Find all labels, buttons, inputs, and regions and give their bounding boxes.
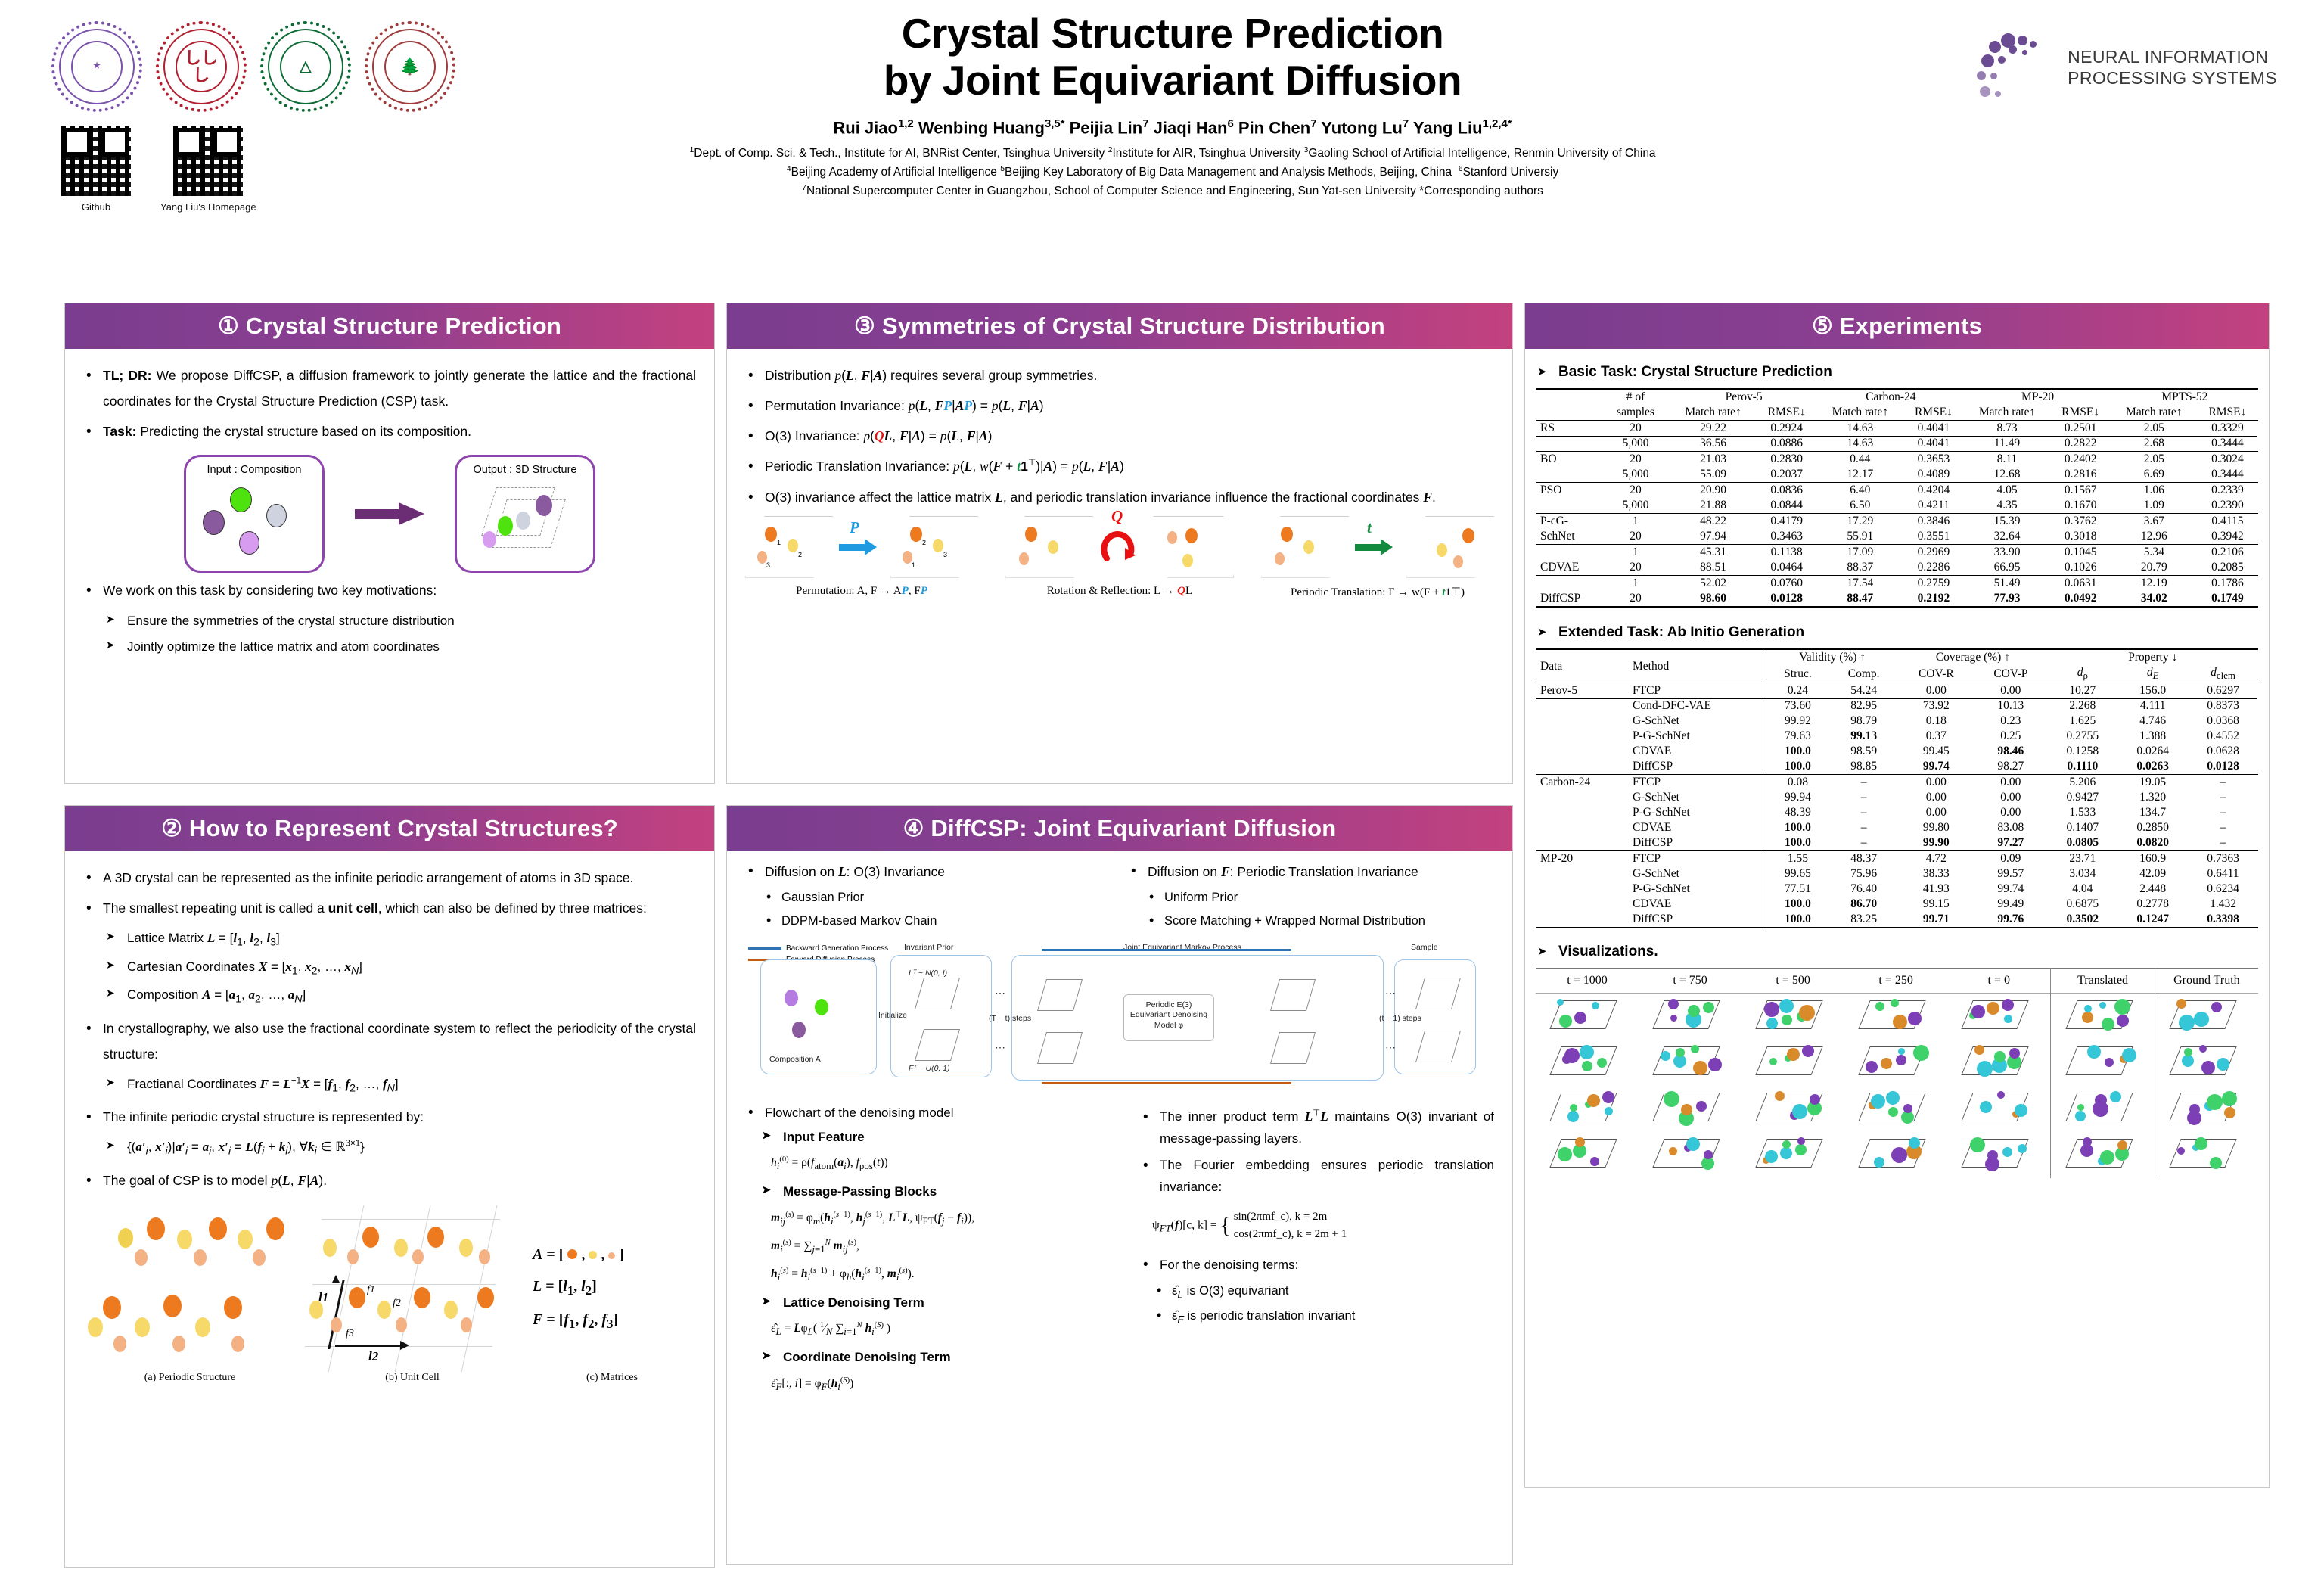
cell-value: 0.4552: [2188, 729, 2258, 744]
cell-value: 0.0263: [2117, 759, 2188, 775]
cell-value: 0.24: [1766, 683, 1829, 699]
cell-value: 77.51: [1766, 882, 1829, 897]
cell-value: 0.1138: [1756, 545, 1817, 561]
tsinghua-seal-icon: ★: [51, 21, 142, 112]
cell-value: 6.69: [2111, 467, 2197, 483]
panel1-motivation-2: Jointly optimize the lattice matrix and …: [106, 634, 696, 661]
neurips-line2: PROCESSING SYSTEMS: [2068, 68, 2277, 89]
crystal-thumbnail: [1754, 994, 1832, 1035]
atom-green: [230, 487, 252, 512]
atom-marker: [2015, 1104, 2027, 1117]
crystal-thumbnail: [1548, 1087, 1626, 1127]
atom-marker: [2095, 1094, 2107, 1106]
panel2-bullet-3: In crystallography, we also use the frac…: [83, 1015, 696, 1067]
atom-marker: [2195, 1137, 2207, 1150]
cell-dataset: [1536, 698, 1628, 714]
atom-marker: [1708, 1058, 1722, 1071]
panel3-title: ③ Symmetries of Crystal Structure Distri…: [727, 303, 1512, 349]
eq-message-3: hi(s) = hi(s−1) + φh(hi(s−1), mi(s)).: [771, 1262, 1123, 1287]
panel3-translation-label: Periodic Translation Invariance:: [765, 459, 953, 474]
cell-method: G-SchNet: [1628, 714, 1766, 729]
cell-dataset: [1536, 759, 1628, 775]
cell-value: 0.2850: [2117, 820, 2188, 835]
cell-value: 2.448: [2117, 882, 2188, 897]
table-row: SchNet2097.940.346355.910.355132.640.301…: [1536, 529, 2258, 545]
atom-marker: [2189, 1104, 2200, 1115]
cell-value: 76.40: [1829, 882, 1898, 897]
cell-value: 0.4179: [1756, 514, 1817, 530]
cell-value: 20.79: [2111, 560, 2197, 576]
cell-value: 86.70: [1829, 897, 1898, 912]
viz-cell: [1947, 1132, 2051, 1178]
cell-value: 0.2501: [2050, 421, 2111, 437]
cell-value: 160.9: [2117, 851, 2188, 867]
cell-value: 1.320: [2117, 790, 2188, 805]
neurips-text: NEURAL INFORMATION PROCESSING SYSTEMS: [2068, 47, 2277, 89]
label-l1: l1: [318, 1290, 328, 1305]
flow-invariant-prior-label: Invariant Prior: [904, 943, 953, 952]
panel4-diffusion-L: Diffusion on L: O(3) Invariance: [745, 862, 1111, 882]
cell-value: 98.46: [1974, 744, 2047, 759]
table-row: Carbon-24FTCP0.08–0.000.005.20619.05–: [1536, 775, 2258, 791]
atom-marker: [2224, 1107, 2235, 1118]
atom-marker: [1587, 1094, 1600, 1107]
cell-value: 0.0368: [2188, 714, 2258, 729]
cell-value: 0.0836: [1756, 483, 1817, 499]
figure-csp-task: Input : Composition Output : 3D Structur…: [83, 455, 696, 573]
table-row: G-SchNet99.6575.9638.3399.573.03442.090.…: [1536, 866, 2258, 882]
atom-marker: [2100, 1150, 2114, 1165]
cell-value: 99.45: [1898, 744, 1974, 759]
crystal-thumbnail: [2064, 994, 2142, 1035]
crystal-thumbnail: [1754, 1087, 1832, 1127]
cell-value: 134.7: [2117, 805, 2188, 820]
viz-cell: [1741, 994, 1844, 1040]
cell-value: 0.1567: [2050, 483, 2111, 499]
cell-value: –: [2188, 820, 2258, 835]
atom-marker: [2082, 1012, 2093, 1023]
th-mpts52: MPTS-52: [2111, 389, 2258, 405]
experiments-subtitle-1: Basic Task: Crystal Structure Prediction: [1537, 364, 2258, 381]
eq-fourier-embedding: ψFT(f)[c, k] = { sin(2πmf_c), k = 2m cos…: [1152, 1203, 1494, 1248]
atom-marker: [2210, 1157, 2222, 1169]
cell-dataset: [1536, 835, 1628, 851]
cell-value: 5.206: [2047, 775, 2117, 791]
cell-value: 99.13: [1829, 729, 1898, 744]
atom-marker: [1582, 1061, 1592, 1071]
eq-coord-denoise: ε̂F[:, i] = φF(hi(S)): [771, 1372, 1123, 1397]
viz-col-header: t = 250: [1844, 969, 1947, 994]
atom-marker: [2084, 1005, 2092, 1012]
table-csp-head: # of Perov-5 Carbon-24 MP-20 MPTS-52 sam…: [1536, 389, 2258, 421]
cell-value: 0.3942: [2197, 529, 2258, 545]
table-generation-results: Data Method Validity (%) ↑ Coverage (%) …: [1536, 648, 2258, 928]
label-f1: f1: [367, 1284, 375, 1296]
table-row: DiffCSP100.083.2599.7199.760.35020.12470…: [1536, 912, 2258, 928]
cell-dataset: [1536, 714, 1628, 729]
panel2-cartesian-coords: Cartesian Coordinates X = [x1, x2, …, xN…: [106, 954, 696, 982]
cell-value: 98.85: [1829, 759, 1898, 775]
cell-value: –: [1829, 835, 1898, 851]
table-row: 5,00021.880.08446.500.42114.350.16701.09…: [1536, 498, 2258, 514]
cell-value: 99.94: [1766, 790, 1829, 805]
panel4-uniform-prior: Uniform Prior: [1146, 886, 1494, 910]
crystal-thumbnail: [2167, 1133, 2246, 1174]
cell-value: –: [2188, 790, 2258, 805]
cell-method: Cond-DFC-VAE: [1628, 698, 1766, 714]
experiments-subtitle-3: Visualizations.: [1537, 944, 2258, 960]
translation-arrow-icon: t: [1355, 541, 1400, 553]
crystal-thumbnail: [2064, 1133, 2142, 1174]
panel-symmetries: ③ Symmetries of Crystal Structure Distri…: [726, 303, 1513, 784]
th-property: Property ↓: [2047, 649, 2258, 665]
cell-dataset: [1536, 790, 1628, 805]
cell-value: 14.63: [1817, 421, 1903, 437]
cell-value: 156.0: [2117, 683, 2188, 699]
cell-method: [1536, 467, 1601, 483]
qr-homepage[interactable]: Yang Liu's Homepage: [160, 124, 256, 213]
cell-samples: 5,000: [1601, 467, 1670, 483]
panel1-tldr-text: We propose DiffCSP, a diffusion framewor…: [103, 368, 696, 409]
cell-value: 0.44: [1817, 452, 1903, 468]
panel2-bullet-1: A 3D crystal can be represented as the i…: [83, 865, 696, 891]
th-data: Data: [1536, 649, 1628, 683]
op-label-Q: Q: [1111, 507, 1123, 526]
neurips-logo: NEURAL INFORMATION PROCESSING SYSTEMS: [1975, 29, 2277, 107]
cell-value: 29.22: [1670, 421, 1756, 437]
figure-output-box: Output : 3D Structure: [455, 455, 595, 573]
cell-value: 0.4211: [1903, 498, 1964, 514]
cell-value: 14.63: [1817, 436, 1903, 452]
qr-github[interactable]: Github: [59, 124, 133, 213]
atom-marker: [2182, 1055, 2194, 1067]
crystal-thumbnail: [1548, 994, 1626, 1035]
crystal-thumbnail: [1651, 1133, 1729, 1174]
cell-value: 100.0: [1766, 820, 1829, 835]
flow-initialize-label: Initialize: [878, 1011, 907, 1020]
cell-value: 0.2106: [2197, 545, 2258, 561]
panel2-periodic-eq: {(a′i, x′i)|a′i = ai, x′i = L(fi + ki), …: [106, 1134, 696, 1162]
cell-value: 0.2778: [2117, 897, 2188, 912]
crystal-thumbnail: [1651, 1040, 1729, 1081]
panel4-coord-head: Coordinate Denoising Term: [762, 1348, 1123, 1367]
table-visualizations: t = 1000t = 750t = 500t = 250t = 0Transl…: [1536, 968, 2258, 1178]
viz-cell: [2155, 1132, 2258, 1178]
table-row: Data Method Validity (%) ↑ Coverage (%) …: [1536, 649, 2258, 665]
cell-value: 1.06: [2111, 483, 2197, 499]
cell-value: 100.0: [1766, 759, 1829, 775]
crystal-thumbnail: [1548, 1040, 1626, 1081]
flow-lattice-prior: Lᵀ ~ N(0, I): [909, 969, 947, 978]
table-row: [1536, 1132, 2258, 1178]
atom-marker: [1574, 1012, 1586, 1024]
cell-value: 2.268: [2047, 698, 2117, 714]
table-row: P-G-SchNet48.39–0.000.001.533134.7–: [1536, 805, 2258, 820]
cell-dataset: Perov-5: [1536, 683, 1628, 699]
figure-periodic-structure: (a) Periodic Structure: [83, 1205, 696, 1395]
cell-value: 0.3846: [1903, 514, 1964, 530]
figure-unit-cell: l1 l2 f1 f2 f3 (b) Unit Cell: [299, 1205, 526, 1379]
cell-value: 6.50: [1817, 498, 1903, 514]
cell-value: 98.27: [1974, 759, 2047, 775]
op-label-t: t: [1367, 518, 1372, 537]
cell-samples: 1: [1601, 514, 1670, 530]
table-row: [1536, 994, 2258, 1040]
lattice-cell-icon: 2 3 1: [890, 516, 978, 578]
cell-value: 100.0: [1766, 835, 1829, 851]
cell-value: 48.39: [1766, 805, 1829, 820]
viz-cell: [1741, 1086, 1844, 1132]
cell-method: [1536, 436, 1601, 452]
cell-value: 99.71: [1898, 912, 1974, 928]
cell-value: 12.96: [2111, 529, 2197, 545]
cell-value: 17.09: [1817, 545, 1903, 561]
poster-title-line2: by Joint Equivariant Diffusion: [530, 58, 1816, 104]
viz-cell: [1844, 1040, 1947, 1086]
atom-marker: [2199, 1045, 2207, 1053]
table-row: P-G-SchNet77.5176.4041.9399.744.042.4480…: [1536, 882, 2258, 897]
cell-value: 0.6297: [2188, 683, 2258, 699]
cell-value: –: [2188, 805, 2258, 820]
cell-method: CDVAE: [1628, 897, 1766, 912]
viz-cell: [1947, 994, 2051, 1040]
cell-value: 83.08: [1974, 820, 2047, 835]
table-row: [1536, 1086, 2258, 1132]
crystal-thumbnail: [1959, 1133, 2038, 1174]
panel2-bullet-5: The goal of CSP is to model p(L, F|A).: [83, 1168, 696, 1193]
cell-value: 77.93: [1964, 591, 2049, 607]
cell-value: 32.64: [1964, 529, 2049, 545]
panel1-task: Task: Predicting the crystal structure b…: [83, 418, 696, 444]
atom-marker: [2117, 1015, 2129, 1027]
cell-value: 88.37: [1817, 560, 1903, 576]
cell-value: 88.51: [1670, 560, 1756, 576]
cell-value: –: [1829, 820, 1898, 835]
cell-samples: 20: [1601, 452, 1670, 468]
cell-value: 0.00: [1974, 683, 2047, 699]
atom-marker: [2117, 1140, 2127, 1150]
atom-marker: [2211, 1002, 2222, 1012]
cell-samples: 20: [1601, 560, 1670, 576]
label-l2: l2: [368, 1349, 378, 1364]
figure-diffusion-flowchart: Backward Generation Process Forward Diff…: [745, 941, 1494, 1099]
poster-title-line1: Crystal Structure Prediction: [530, 11, 1816, 58]
cell-method: PSO: [1536, 483, 1601, 499]
panel2-lattice-matrix: Lattice Matrix L = [l1, l2, l3]: [106, 925, 696, 953]
flow-steps-2: (t − 1) steps: [1379, 1014, 1421, 1023]
qr-codes: Github Yang Liu's Homepage: [59, 124, 256, 213]
atom-darkpurple: [203, 510, 225, 535]
cell-value: 2.05: [2111, 421, 2197, 437]
eq-ft-cos: cos(2πmf_c), k = 2m + 1: [1234, 1228, 1347, 1240]
panel4-denoise-eL: ε̂L is O(3) equivariant: [1154, 1280, 1494, 1304]
crystal-thumbnail: [1548, 1133, 1626, 1174]
panel1-title: ① Crystal Structure Prediction: [65, 303, 714, 349]
cell-value: 0.4204: [1903, 483, 1964, 499]
viz-cell: [2051, 994, 2155, 1040]
author-list: Rui Jiao1,2 Wenbing Huang3,5* Peijia Lin…: [530, 117, 1816, 138]
eq-ft-sin: sin(2πmf_c), k = 2m: [1234, 1211, 1328, 1223]
cell-value: 0.3444: [2197, 436, 2258, 452]
atom-marker: [1564, 1048, 1580, 1063]
table-row: G-SchNet99.94–0.000.000.94271.320–: [1536, 790, 2258, 805]
cell-value: 0.00: [1974, 790, 2047, 805]
atom-marker: [2077, 1104, 2084, 1111]
viz-cell: [2051, 1132, 2155, 1178]
viz-cell: [1947, 1086, 2051, 1132]
cell-dataset: [1536, 729, 1628, 744]
cell-method: G-SchNet: [1628, 790, 1766, 805]
cell-value: 55.09: [1670, 467, 1756, 483]
crystal-thumbnail: [1856, 1040, 1935, 1081]
cell-value: 0.1407: [2047, 820, 2117, 835]
column-3: ⑤ Experiments Basic Task: Crystal Struct…: [1524, 303, 2270, 1509]
cell-value: 99.74: [1898, 759, 1974, 775]
atom-marker: [1559, 1015, 1572, 1028]
cell-value: 0.2339: [2197, 483, 2258, 499]
cell-value: 0.2192: [1903, 591, 1964, 607]
viz-cell: [1639, 1086, 1741, 1132]
cell-value: 0.08: [1766, 775, 1829, 791]
cell-method: [1536, 498, 1601, 514]
lattice-cell-icon: [1406, 516, 1494, 578]
cell-method: BO: [1536, 452, 1601, 468]
table-csp-body: RS2029.220.292414.630.40418.730.25012.05…: [1536, 421, 2258, 608]
cell-value: 73.92: [1898, 698, 1974, 714]
cell-value: 0.00: [1898, 683, 1974, 699]
atom-marker: [2018, 1144, 2027, 1153]
cell-method: [1536, 545, 1601, 561]
qr-code-icon[interactable]: [171, 124, 245, 198]
panel3-permutation-label: Permutation Invariance:: [765, 398, 909, 413]
table-gen-head: Data Method Validity (%) ↑ Coverage (%) …: [1536, 649, 2258, 683]
atom-lightpurple: [239, 531, 259, 555]
cell-value: 100.0: [1766, 897, 1829, 912]
th-mp20: MP-20: [1964, 389, 2111, 405]
atom-marker: [1913, 1045, 1929, 1061]
cell-samples: 20: [1601, 529, 1670, 545]
figure-symmetries: 1 2 3 P: [745, 516, 1494, 599]
table-row: BO2021.030.28300.440.36538.110.24022.050…: [1536, 452, 2258, 468]
lattice-cell-icon: [1261, 516, 1349, 578]
cell-dataset: [1536, 805, 1628, 820]
table-row: CDVAE100.0–99.8083.080.14070.2850–: [1536, 820, 2258, 835]
cell-value: 0.0886: [1756, 436, 1817, 452]
panel3-permutation: Permutation Invariance: p(L, FP|AP) = p(…: [745, 393, 1494, 418]
cell-value: 0.2085: [2197, 560, 2258, 576]
cell-value: 1.55: [1766, 851, 1829, 867]
cell-value: 0.3762: [2050, 514, 2111, 530]
cell-dataset: MP-20: [1536, 851, 1628, 867]
cell-value: 11.49: [1964, 436, 2049, 452]
op-label-P: P: [850, 518, 859, 537]
cell-value: 20.90: [1670, 483, 1756, 499]
table-row: PSO2020.900.08366.400.42044.050.15671.06…: [1536, 483, 2258, 499]
neurips-swirl-icon: [1975, 29, 2057, 107]
cell-value: 98.59: [1829, 744, 1898, 759]
cell-method: FTCP: [1628, 775, 1766, 791]
cell-value: 0.3551: [1903, 529, 1964, 545]
panel4-right-2: The Fourier embedding ensures periodic t…: [1140, 1155, 1494, 1199]
table-row: 5,00055.090.203712.170.408912.680.28166.…: [1536, 467, 2258, 483]
cell-value: 0.3398: [2188, 912, 2258, 928]
panel3-o3-label: O(3) Invariance:: [765, 428, 863, 443]
cell-value: 75.96: [1829, 866, 1898, 882]
cell-value: 82.95: [1829, 698, 1898, 714]
panel3-o3-invariance: O(3) Invariance: p(QL, F|A) = p(L, F|A): [745, 423, 1494, 449]
cell-value: –: [1829, 805, 1898, 820]
cell-value: 0.0128: [2188, 759, 2258, 775]
panel-diffcsp: ④ DiffCSP: Joint Equivariant Diffusion D…: [726, 805, 1513, 1565]
atom-marker: [2207, 1094, 2223, 1110]
column-1: ① Crystal Structure Prediction TL; DR: W…: [64, 303, 715, 1589]
crystal-thumbnail: [1856, 1133, 1935, 1174]
cell-method: CDVAE: [1628, 744, 1766, 759]
atom-marker: [2110, 1091, 2121, 1102]
qr-code-icon[interactable]: [59, 124, 133, 198]
matrix-A: A = [ , , ]: [533, 1239, 691, 1270]
cell-value: 0.0628: [2188, 744, 2258, 759]
cell-value: 15.39: [1964, 514, 2049, 530]
atom-marker: [2222, 1091, 2237, 1106]
th-carbon24: Carbon-24: [1817, 389, 1964, 405]
cell-value: 0.0631: [2050, 576, 2111, 592]
title-block: Crystal Structure Prediction by Joint Eq…: [530, 11, 1816, 201]
symmetry-rotation-caption: Rotation & Reflection: L → QL: [1005, 585, 1234, 598]
flow-sample-label: Sample: [1411, 943, 1438, 952]
cell-value: 0.00: [1898, 775, 1974, 791]
cell-value: 0.4089: [1903, 467, 1964, 483]
arrow-icon: [355, 504, 424, 524]
panel1-task-label: Task:: [103, 424, 136, 439]
table-row: # of Perov-5 Carbon-24 MP-20 MPTS-52: [1536, 389, 2258, 405]
table-row: CDVAE100.098.5999.4598.460.12580.02640.0…: [1536, 744, 2258, 759]
th-validity: Validity (%) ↑: [1766, 649, 1899, 665]
cell-value: 4.72: [1898, 851, 1974, 867]
flow-composition-label: Composition A: [769, 1055, 821, 1064]
cell-value: 0.1258: [2047, 744, 2117, 759]
panel-represent-crystal-structures: ② How to Represent Crystal Structures? A…: [64, 805, 715, 1568]
viz-cell: [1844, 994, 1947, 1040]
flow-denoising-module: Periodic E(3) Equivariant Denoising Mode…: [1128, 1000, 1210, 1030]
flow-steps-1: (T − t) steps: [989, 1014, 1031, 1023]
cell-value: 0.1786: [2197, 576, 2258, 592]
cell-value: 3.034: [2047, 866, 2117, 882]
legend-backward: Backward Generation Process: [786, 944, 888, 953]
cell-value: 0.9427: [2047, 790, 2117, 805]
viz-cell: [1536, 994, 1639, 1040]
atom-marker: [1664, 1091, 1679, 1107]
cell-value: 8.11: [1964, 452, 2049, 468]
cell-method: DiffCSP: [1536, 591, 1601, 607]
panel2-bullet-2: The smallest repeating unit is called a …: [83, 895, 696, 921]
cell-value: 99.74: [1974, 882, 2047, 897]
table-row: DiffCSP100.0–99.9097.270.08050.0820–: [1536, 835, 2258, 851]
cell-value: –: [2188, 775, 2258, 791]
cell-samples: 1: [1601, 576, 1670, 592]
panel3-bullet-1: Distribution p(L, F|A) requires several …: [745, 362, 1494, 388]
panel2-bullet-2c: , which can also be defined by three mat…: [378, 900, 647, 916]
table-row: DiffCSP2098.600.012888.470.219277.930.04…: [1536, 591, 2258, 607]
panel5-title: ⑤ Experiments: [1525, 303, 2269, 349]
panel4-lattice-head: Lattice Denoising Term: [762, 1293, 1123, 1313]
panel3-translation-invariance: Periodic Translation Invariance: p(L, w(…: [745, 453, 1494, 479]
sysu-seal-icon: △: [260, 21, 351, 112]
cell-value: 0.3502: [2047, 912, 2117, 928]
viz-col-header: t = 500: [1741, 969, 1844, 994]
cell-value: 0.18: [1898, 714, 1974, 729]
cell-value: 0.8373: [2188, 698, 2258, 714]
